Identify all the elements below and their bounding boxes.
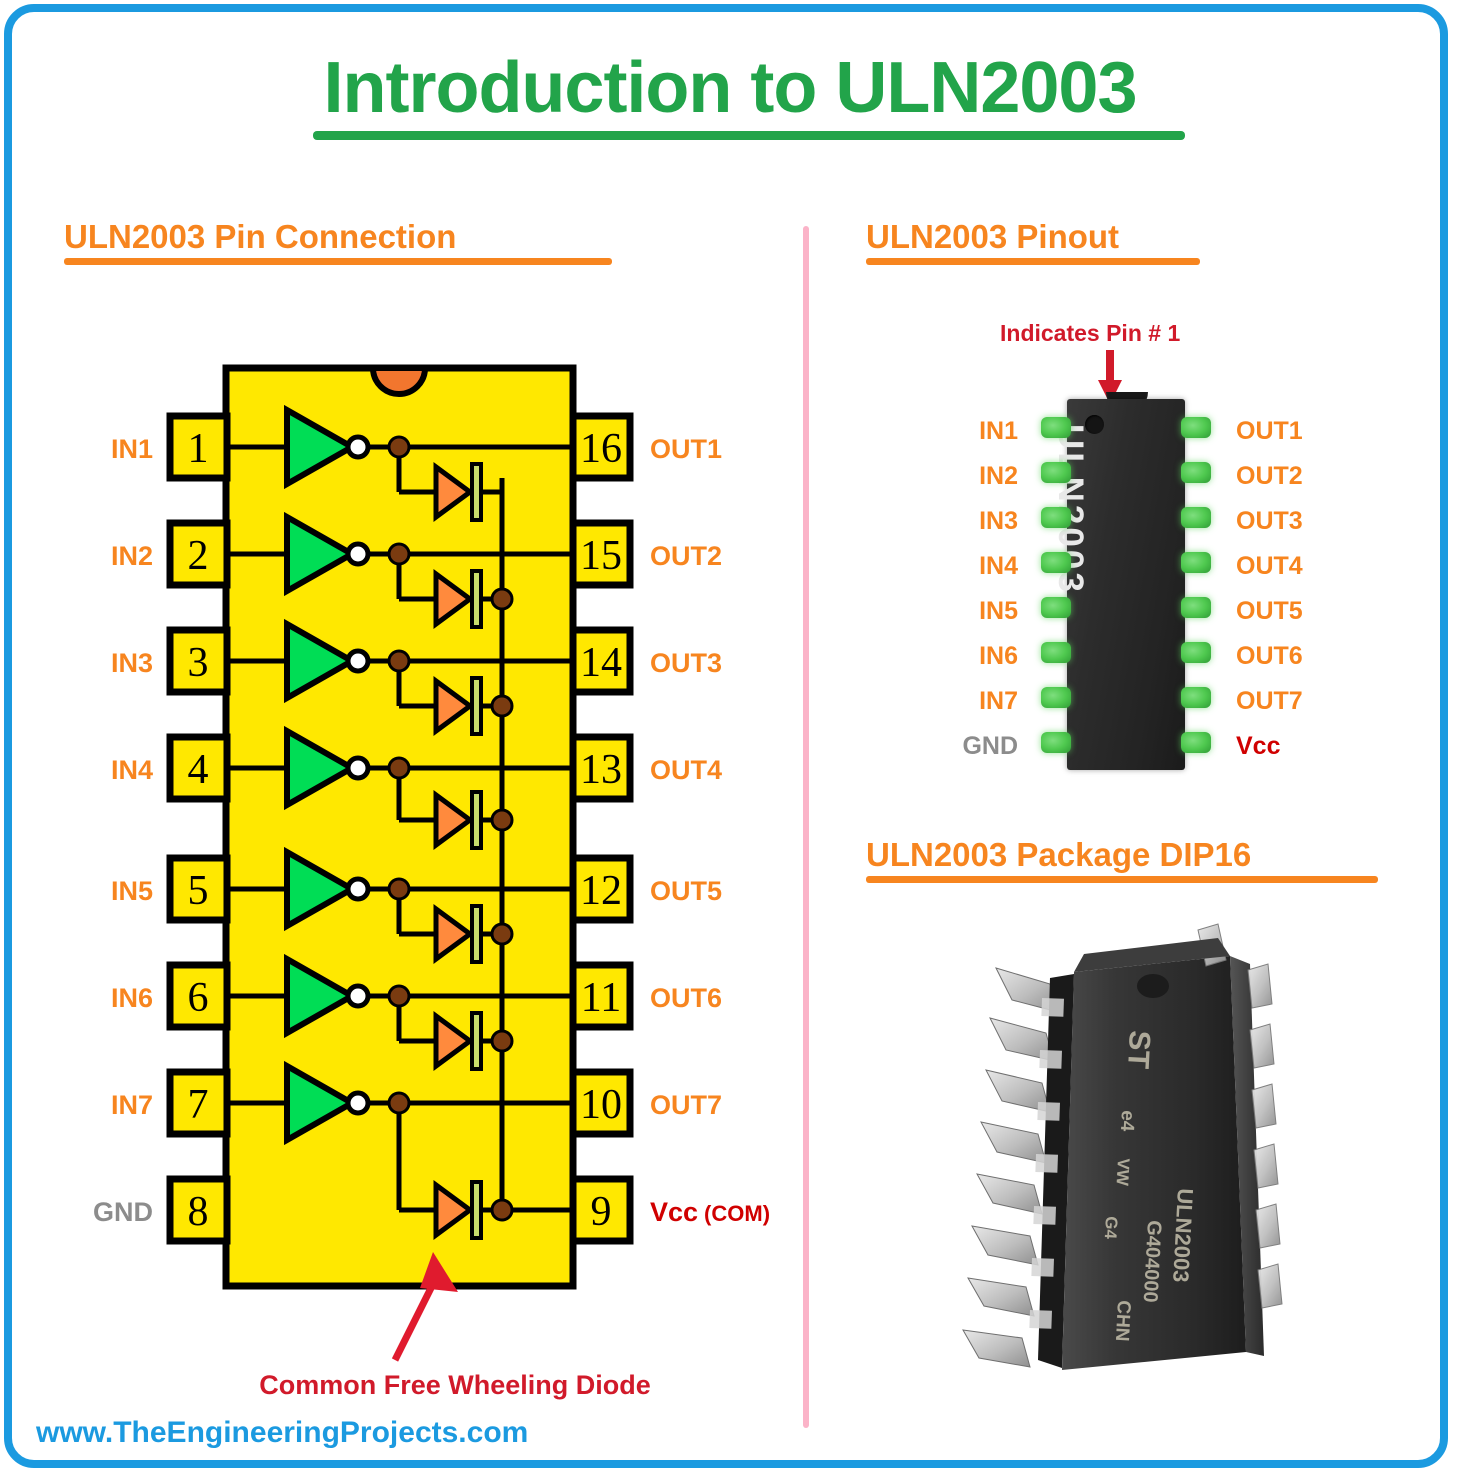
svg-text:7: 7 [188, 1082, 209, 1128]
pinout-label-in4: IN4 [900, 554, 1018, 579]
svg-text:IN1: IN1 [111, 434, 153, 464]
svg-text:11: 11 [581, 975, 621, 1021]
svg-text:4: 4 [188, 747, 209, 793]
package-body [1062, 956, 1246, 1370]
svg-text:OUT3: OUT3 [650, 648, 722, 678]
dip-pin-right-3 [1181, 507, 1211, 528]
dip-pin-right-7 [1181, 687, 1211, 708]
pinout-label-out6: OUT6 [1236, 644, 1303, 669]
pinout-label-out3: OUT3 [1236, 509, 1303, 534]
marking-vw: VW [1113, 1158, 1133, 1187]
pinout-label-in2: IN2 [900, 464, 1018, 489]
package-pin1-dimple-icon [1137, 974, 1169, 998]
free-wheeling-diode-annotation: Common Free Wheeling Diode [259, 1370, 651, 1400]
heading-package: ULN2003 Package DIP16 [866, 838, 1251, 871]
pinout-label-gnd: GND [900, 734, 1018, 759]
pinout-label-out2: OUT2 [1236, 464, 1303, 489]
package-photo: ST e4 VW G4 ULN2003 G404000 CHN [950, 920, 1370, 1390]
pinout-label-out4: OUT4 [1236, 554, 1303, 579]
svg-text:3: 3 [188, 640, 209, 686]
left-pin-numbers: 1 2 3 4 5 6 7 8 [188, 426, 209, 1235]
svg-text:8: 8 [188, 1189, 209, 1235]
pinout-label-in5: IN5 [900, 599, 1018, 624]
dip-pin-left-6 [1041, 642, 1071, 663]
dip-pin-right-8 [1181, 732, 1211, 753]
pinout-label-out1: OUT1 [1236, 419, 1303, 444]
marking-origin: CHN [1111, 1300, 1134, 1342]
svg-text:OUT7: OUT7 [650, 1090, 722, 1120]
gnd-label: GND [93, 1197, 153, 1227]
svg-text:IN7: IN7 [111, 1090, 153, 1120]
heading-package-underline [866, 876, 1378, 883]
svg-text:15: 15 [580, 533, 622, 579]
svg-text:9: 9 [591, 1189, 612, 1235]
pinout-label-in7: IN7 [900, 689, 1018, 714]
svg-text:5: 5 [188, 868, 209, 914]
poster-root: Introduction to ULN2003 ULN2003 Pin Conn… [0, 0, 1460, 1480]
dip-pin-left-2 [1041, 462, 1071, 483]
svg-text:OUT5: OUT5 [650, 876, 722, 906]
svg-text:13: 13 [580, 747, 622, 793]
pin1-indicator-note: Indicates Pin # 1 [1000, 322, 1180, 345]
dip-pin-right-6 [1181, 642, 1211, 663]
dip-pin-left-4 [1041, 552, 1071, 573]
right-pin-numbers: 16 15 14 13 12 11 10 9 [580, 426, 622, 1235]
svg-text:IN2: IN2 [111, 541, 153, 571]
svg-text:14: 14 [580, 640, 622, 686]
svg-text:OUT4: OUT4 [650, 755, 722, 785]
vcc-label: Vcc(COM) [650, 1197, 770, 1227]
dip-pin-left-7 [1041, 687, 1071, 708]
svg-text:IN4: IN4 [111, 755, 153, 785]
svg-text:12: 12 [580, 868, 622, 914]
svg-text:OUT6: OUT6 [650, 983, 722, 1013]
pinout-label-in6: IN6 [900, 644, 1018, 669]
dip-pin-right-2 [1181, 462, 1211, 483]
svg-text:16: 16 [580, 426, 622, 472]
dip-pin-right-1 [1181, 417, 1211, 438]
svg-text:OUT1: OUT1 [650, 434, 722, 464]
marking-lot-code: G404000 [1139, 1220, 1165, 1303]
marking-e4: e4 [1116, 1110, 1138, 1133]
svg-text:OUT2: OUT2 [650, 541, 722, 571]
footer-website-url[interactable]: www.TheEngineeringProjects.com [36, 1418, 528, 1448]
pinout-label-in3: IN3 [900, 509, 1018, 534]
marking-g4: G4 [1101, 1216, 1121, 1240]
pinout-label-out7: OUT7 [1236, 689, 1303, 714]
svg-text:10: 10 [580, 1082, 622, 1128]
dip-pin-right-5 [1181, 597, 1211, 618]
dip-pin-left-1 [1041, 417, 1071, 438]
svg-text:IN3: IN3 [111, 648, 153, 678]
dip-pin-left-5 [1041, 597, 1071, 618]
svg-text:IN5: IN5 [111, 876, 153, 906]
svg-text:2: 2 [188, 533, 209, 579]
svg-text:1: 1 [188, 426, 209, 472]
svg-text:6: 6 [188, 975, 209, 1021]
heading-pinout-underline [866, 258, 1200, 265]
marking-part-number: ULN2003 [1168, 1188, 1198, 1283]
svg-text:IN6: IN6 [111, 983, 153, 1013]
chip-notch-icon [373, 368, 425, 394]
right-pin-labels: OUT1 OUT2 OUT3 OUT4 OUT5 OUT6 OUT7 [650, 434, 722, 1120]
pinout-label-in1: IN1 [900, 419, 1018, 444]
left-pin-labels: IN1 IN2 IN3 IN4 IN5 IN6 IN7 GND [93, 434, 153, 1227]
heading-pinout: ULN2003 Pinout [866, 220, 1119, 253]
pinout-label-vcc: Vcc [1236, 734, 1280, 759]
dip-pin-left-3 [1041, 507, 1071, 528]
dip-pin-left-8 [1041, 732, 1071, 753]
dip-pin-right-4 [1181, 552, 1211, 573]
marking-st-logo: ST [1121, 1030, 1156, 1070]
pinout-label-out5: OUT5 [1236, 599, 1303, 624]
pin-connection-schematic: 1 2 3 4 5 6 7 8 16 15 14 13 12 11 10 9 I… [0, 0, 840, 1480]
